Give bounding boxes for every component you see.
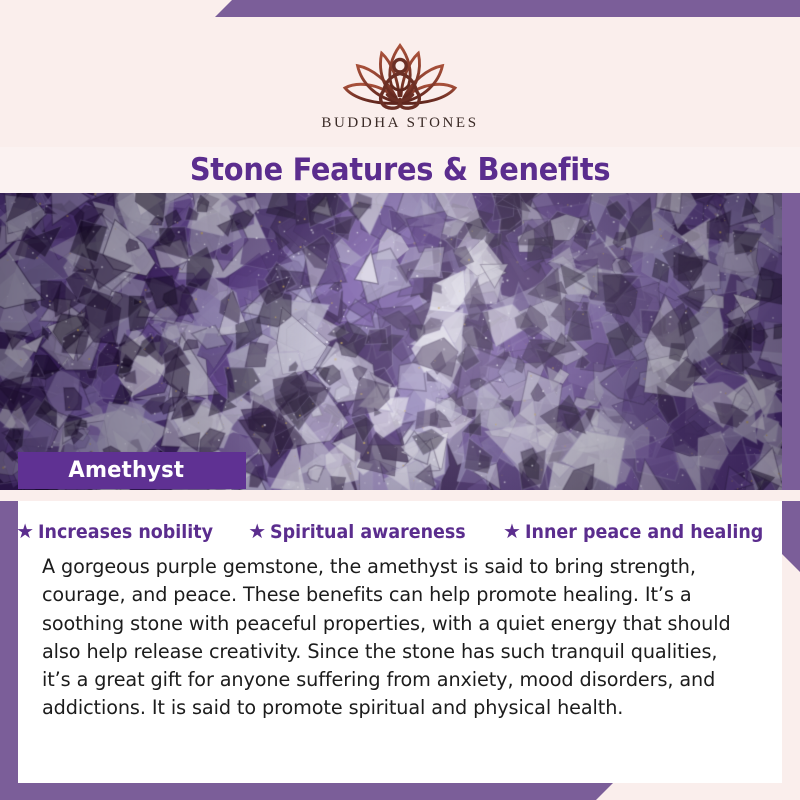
benefit-item-2: ★ Inner peace and healing bbox=[503, 521, 784, 543]
hero-content-divider bbox=[0, 490, 800, 501]
brand-logo: BUDDHA STONES bbox=[0, 17, 800, 132]
benefit-item-1: ★ Spiritual awareness bbox=[248, 521, 483, 543]
poster-header: BUDDHA STONES Stone Features & Benefits bbox=[0, 17, 800, 193]
content-panel: ★ Increases nobility ★ Spiritual awarene… bbox=[18, 501, 782, 783]
benefit-item-0: ★ Increases nobility bbox=[16, 521, 228, 543]
title-bar: Stone Features & Benefits bbox=[0, 147, 800, 193]
stone-name-banner: Amethyst bbox=[18, 452, 246, 489]
amethyst-crystal-image bbox=[0, 193, 782, 490]
frame-top-border bbox=[215, 0, 800, 17]
benefit-label-0: Increases nobility bbox=[38, 521, 213, 543]
star-icon: ★ bbox=[503, 522, 521, 542]
lotus-meditation-icon bbox=[325, 31, 475, 113]
benefit-label-2: Inner peace and healing bbox=[525, 521, 763, 543]
stone-description: A gorgeous purple gemstone, the amethyst… bbox=[40, 553, 749, 723]
stone-photo bbox=[0, 193, 782, 490]
frame-bottom-border bbox=[0, 783, 613, 800]
stone-info-poster: BUDDHA STONES Stone Features & Benefits … bbox=[0, 0, 800, 800]
benefits-list: ★ Increases nobility ★ Spiritual awarene… bbox=[40, 521, 760, 543]
star-icon: ★ bbox=[16, 522, 34, 542]
star-icon: ★ bbox=[248, 522, 266, 542]
page-title: Stone Features & Benefits bbox=[190, 152, 610, 188]
stone-name-label: Amethyst bbox=[68, 458, 184, 483]
brand-name: BUDDHA STONES bbox=[321, 115, 478, 132]
benefit-label-1: Spiritual awareness bbox=[270, 521, 466, 543]
